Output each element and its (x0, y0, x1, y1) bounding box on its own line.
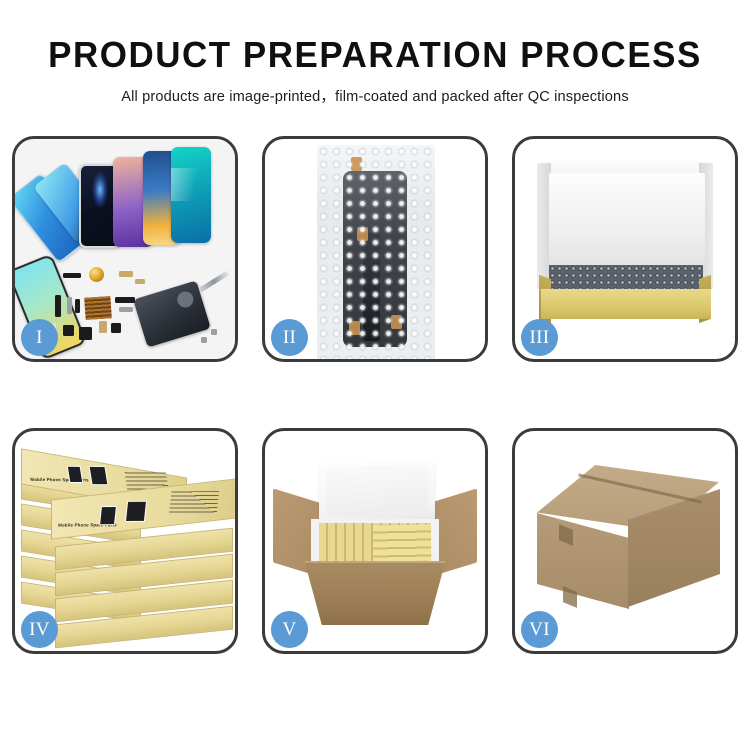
carton-front-face (537, 513, 629, 609)
bubble-texture (317, 145, 435, 359)
spare-part (115, 297, 135, 303)
spare-screw (211, 329, 217, 335)
carton-body (305, 563, 445, 625)
spare-part (63, 325, 74, 336)
process-step-grid: I II (12, 136, 738, 654)
product-preparation-infographic: PRODUCT PREPARATION PROCESS All products… (0, 0, 750, 750)
step-badge-4: IV (21, 611, 58, 648)
process-step-panel-2: II (262, 136, 488, 362)
header: PRODUCT PREPARATION PROCESS All products… (0, 0, 750, 106)
box-product-thumbnail (67, 466, 84, 483)
spare-part (111, 323, 121, 333)
spare-part (135, 279, 145, 284)
process-step-panel-4: Mobile Phone Spare Parts Mobile Phone Sp… (12, 428, 238, 654)
spare-part (79, 327, 92, 340)
spare-part (99, 321, 107, 333)
process-step-panel-6: VI (512, 428, 738, 654)
spare-part (55, 295, 61, 317)
bubble-padding-layer (549, 265, 703, 291)
step-badge-1: I (21, 319, 58, 356)
step-badge-2: II (271, 319, 308, 356)
step-badge-5: V (271, 611, 308, 648)
page-subtitle: All products are image-printed，film-coat… (0, 85, 750, 106)
spare-part (75, 299, 80, 313)
spare-part (67, 297, 72, 314)
process-step-panel-1: I (12, 136, 238, 362)
vibration-motor-part (89, 267, 104, 282)
packed-retail-boxes-row-2 (373, 524, 432, 561)
step-badge-6: VI (521, 611, 558, 648)
box-product-thumbnail (89, 466, 109, 485)
page-title: PRODUCT PREPARATION PROCESS (11, 36, 739, 74)
kraft-box-front (541, 289, 711, 319)
step-badge-3: III (521, 319, 558, 356)
spare-screw (201, 337, 207, 343)
box-product-thumbnail (125, 501, 147, 522)
foam-lid (319, 459, 435, 525)
spare-part (119, 271, 133, 277)
bubble-wrap-bag (317, 145, 435, 359)
process-step-panel-5: V (262, 428, 488, 654)
copper-shield-part (84, 296, 111, 320)
box-product-thumbnail (99, 506, 117, 525)
box-spec-lines (169, 491, 219, 515)
process-step-panel-3: III (512, 136, 738, 362)
spare-part (119, 307, 133, 312)
foam-sheet (549, 173, 705, 265)
phone-screen-teal (171, 147, 211, 243)
spare-part (63, 273, 81, 278)
